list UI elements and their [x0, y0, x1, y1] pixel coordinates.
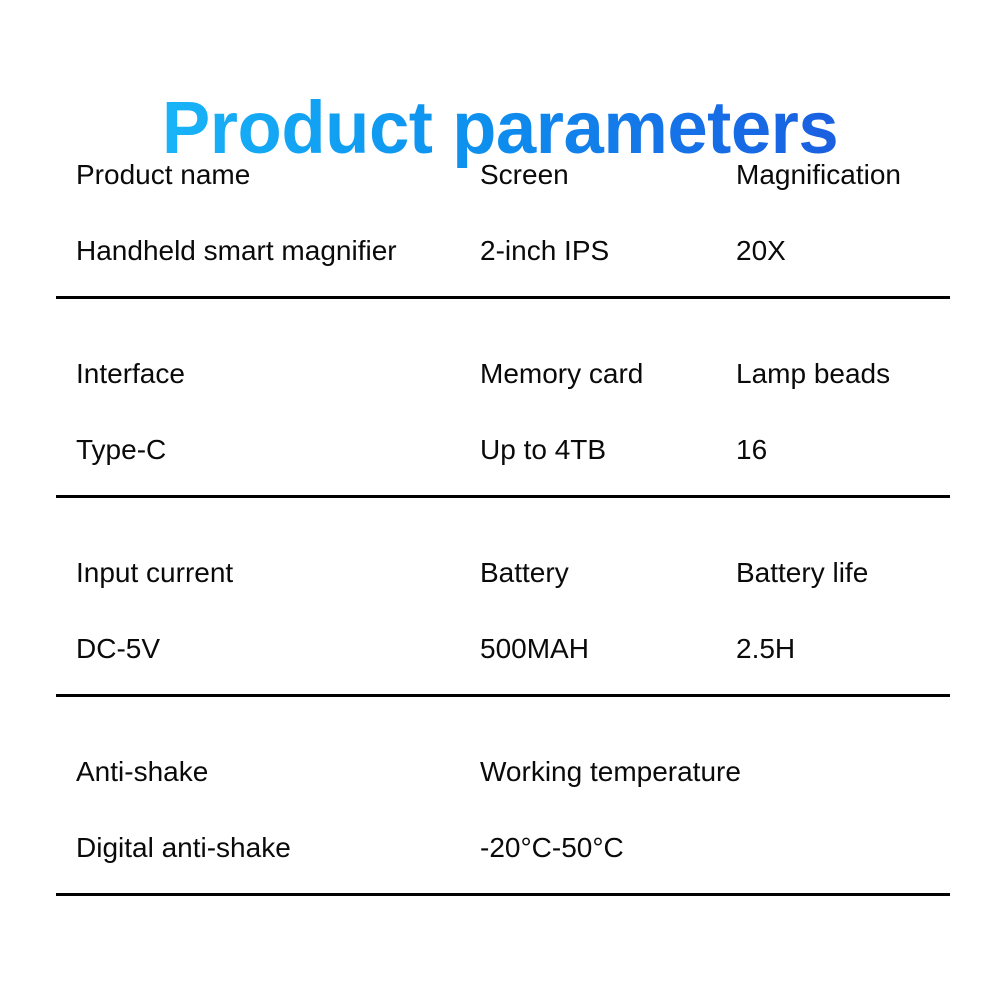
- table-row-values: DC-5V 500MAH 2.5H: [66, 632, 950, 694]
- row-divider: [56, 893, 950, 896]
- product-parameters-page: Product parameters Product name Screen M…: [0, 0, 1000, 1000]
- spec-value: 20X: [736, 234, 786, 268]
- spec-value: DC-5V: [76, 632, 160, 666]
- table-row-values: Type-C Up to 4TB 16: [66, 433, 950, 495]
- spec-table: Product name Screen Magnification Handhe…: [56, 158, 950, 896]
- spec-label: Battery: [480, 556, 569, 590]
- row-spacer: [56, 697, 950, 755]
- table-row-labels: Interface Memory card Lamp beads: [66, 357, 950, 433]
- table-row-inner: Input current Battery Battery life DC-5V…: [56, 556, 950, 694]
- table-row: Product name Screen Magnification Handhe…: [56, 158, 950, 299]
- spec-value: 16: [736, 433, 767, 467]
- table-row-values: Handheld smart magnifier 2-inch IPS 20X: [66, 234, 950, 296]
- table-row-labels: Product name Screen Magnification: [66, 158, 950, 234]
- spec-value: Up to 4TB: [480, 433, 606, 467]
- table-row-inner: Product name Screen Magnification Handhe…: [56, 158, 950, 296]
- table-row: Interface Memory card Lamp beads Type-C …: [56, 357, 950, 498]
- spec-value: 500MAH: [480, 632, 589, 666]
- row-divider: [56, 495, 950, 498]
- spec-label: Interface: [76, 357, 185, 391]
- table-row-labels: Anti-shake Working temperature: [66, 755, 950, 831]
- row-divider: [56, 694, 950, 697]
- table-row: Input current Battery Battery life DC-5V…: [56, 556, 950, 697]
- row-divider: [56, 296, 950, 299]
- spec-label: Magnification: [736, 158, 901, 192]
- spec-label: Memory card: [480, 357, 643, 391]
- spec-value: Digital anti-shake: [76, 831, 291, 865]
- spec-label: Anti-shake: [76, 755, 208, 789]
- spec-label: Lamp beads: [736, 357, 890, 391]
- table-row-values: Digital anti-shake -20°C-50°C: [66, 831, 950, 893]
- table-row-inner: Interface Memory card Lamp beads Type-C …: [56, 357, 950, 495]
- spec-label: Battery life: [736, 556, 868, 590]
- row-spacer: [56, 498, 950, 556]
- table-row-labels: Input current Battery Battery life: [66, 556, 950, 632]
- spec-value: Type-C: [76, 433, 166, 467]
- spec-label: Working temperature: [480, 755, 741, 789]
- spec-value: -20°C-50°C: [480, 831, 624, 865]
- table-row-inner: Anti-shake Working temperature Digital a…: [56, 755, 950, 893]
- spec-value: 2-inch IPS: [480, 234, 609, 268]
- spec-value: Handheld smart magnifier: [76, 234, 397, 268]
- spec-value: 2.5H: [736, 632, 795, 666]
- spec-label: Input current: [76, 556, 233, 590]
- table-row: Anti-shake Working temperature Digital a…: [56, 755, 950, 896]
- page-title: Product parameters: [162, 88, 838, 168]
- row-spacer: [56, 299, 950, 357]
- spec-label: Product name: [76, 158, 250, 192]
- spec-label: Screen: [480, 158, 569, 192]
